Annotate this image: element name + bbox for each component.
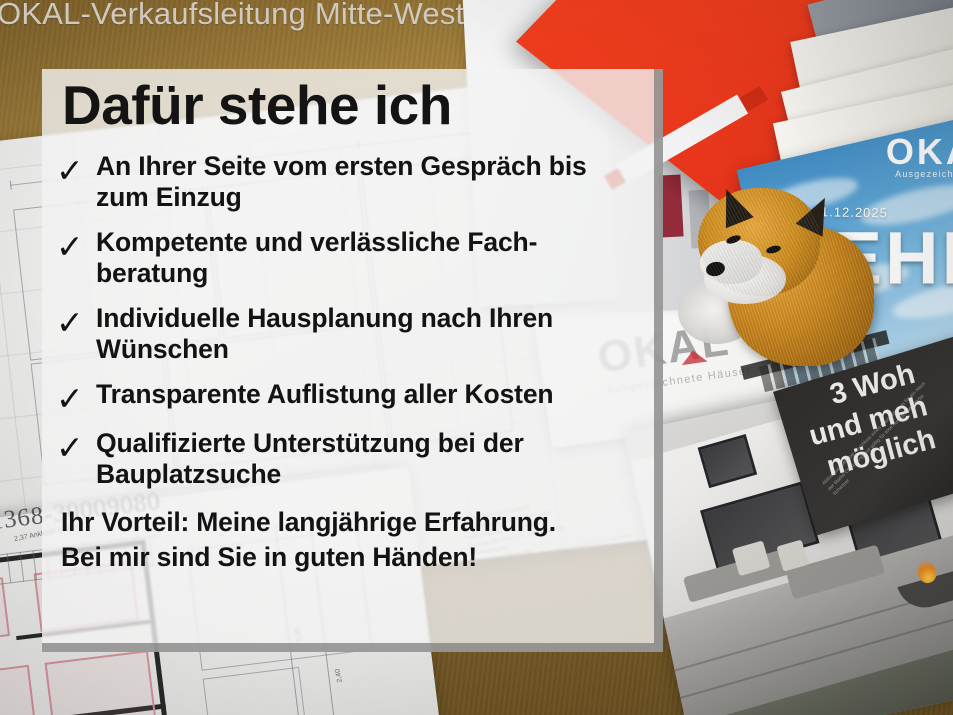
list-item: ✓ Kompetente und verlässliche Fach-berat… — [56, 227, 638, 290]
check-icon: ✓ — [56, 428, 96, 464]
check-icon: ✓ — [56, 303, 96, 339]
floorplan-red-room — [0, 665, 38, 715]
page-title: Dafür stehe ich — [56, 75, 638, 137]
fox-head — [698, 188, 820, 296]
fox-plush-figurine — [690, 170, 875, 385]
list-item: ✓ Qualifizierte Unterstützung bei der Ba… — [56, 428, 638, 491]
fox-cheek — [704, 254, 786, 304]
closing-statement: Ihr Vorteil: Meine langjährige Erfahrung… — [56, 505, 638, 575]
watermark-label: OKAL-Verkaufsleitung Mitte-West — [0, 0, 464, 32]
list-item-label: Transparente Auflistung aller Kosten — [96, 379, 553, 411]
fox-snout — [700, 240, 762, 284]
fox-ear-left — [712, 184, 753, 229]
slide-canvas: Datum: Unterschrift Bauherrin Druckdatum… — [0, 0, 953, 715]
floorplan-dimension-label: 2,40 — [334, 668, 343, 683]
floorplan-red-room — [0, 577, 10, 646]
promise-panel-inner: Dafür stehe ich ✓ An Ihrer Seite vom ers… — [42, 69, 654, 643]
list-item-label: Qualifizierte Unterstützung bei der Baup… — [96, 428, 638, 491]
check-icon: ✓ — [56, 379, 96, 415]
floorplan-red-room — [45, 650, 157, 715]
brochure-brand-logo: OKAL — [886, 131, 953, 173]
closing-line-1: Ihr Vorteil: Meine langjährige Erfahrung… — [61, 505, 638, 540]
list-item: ✓ An Ihrer Seite vom ersten Gespräch bis… — [56, 151, 638, 214]
list-item-label: Kompetente und verlässliche Fach-beratun… — [96, 227, 638, 290]
promise-panel: Dafür stehe ich ✓ An Ihrer Seite vom ers… — [42, 69, 663, 652]
check-icon: ✓ — [56, 227, 96, 263]
benefits-list: ✓ An Ihrer Seite vom ersten Gespräch bis… — [56, 151, 638, 491]
list-item: ✓ Individuelle Hausplanung nach Ihren Wü… — [56, 303, 638, 366]
check-icon: ✓ — [56, 151, 96, 187]
list-item: ✓ Transparente Auflistung aller Kosten — [56, 379, 638, 415]
list-item-label: Individuelle Hausplanung nach Ihren Wüns… — [96, 303, 638, 366]
fox-eye-left — [725, 234, 741, 246]
fox-eye-right — [765, 244, 781, 254]
brochure-brand-tagline: Ausgezeichnete Häuser — [895, 169, 953, 179]
list-item-label: An Ihrer Seite vom ersten Gespräch bis z… — [96, 151, 638, 214]
closing-line-2: Bei mir sind Sie in guten Händen! — [61, 540, 638, 575]
